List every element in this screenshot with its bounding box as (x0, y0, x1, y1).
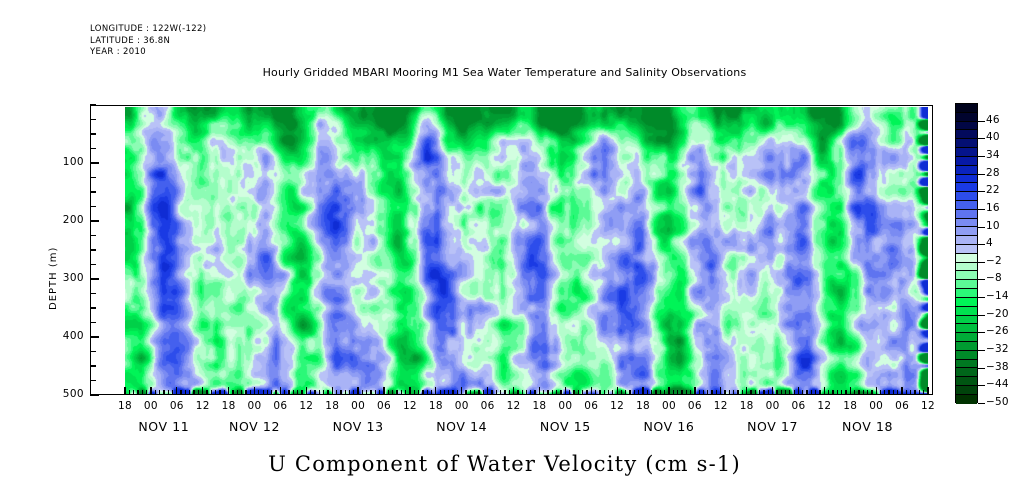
x-tick-minor (172, 390, 173, 395)
x-tick-minor (500, 390, 501, 395)
x-tick-major (798, 387, 799, 395)
colorbar-band (956, 395, 977, 404)
colorbar-band (956, 201, 977, 210)
x-tick-minor (547, 390, 548, 395)
colorbar-band (956, 157, 977, 166)
x-tick-minor (314, 390, 315, 395)
x-tick-minor (742, 390, 743, 395)
x-tick-minor (530, 390, 531, 395)
x-tick-major (228, 387, 229, 395)
x-tick-minor (396, 390, 397, 395)
colorbar-tick-label: 10 (986, 220, 1009, 232)
x-tick-major (357, 387, 358, 395)
x-tick-minor (750, 390, 751, 395)
colorbar-band (956, 368, 977, 377)
colorbar-tick-label: −2 (986, 255, 1009, 267)
x-day-label: NOV 15 (505, 419, 625, 434)
x-tick-minor (198, 390, 199, 395)
x-tick-minor (543, 390, 544, 395)
x-tick-minor (470, 390, 471, 395)
x-tick-minor (129, 390, 130, 395)
colorbar-band (956, 227, 977, 236)
x-tick-minor (427, 390, 428, 395)
x-tick-major (927, 387, 928, 395)
colorbar-tick (978, 279, 985, 280)
x-tick-minor (284, 390, 285, 395)
colorbar-tick-label: 16 (986, 202, 1009, 214)
x-tick-minor (582, 390, 583, 395)
y-tick-major (90, 336, 99, 338)
colorbar-tick-label: −44 (986, 378, 1009, 390)
x-tick-minor (664, 390, 665, 395)
x-tick-minor (345, 390, 346, 395)
colorbar-band (956, 130, 977, 139)
x-tick-minor (806, 390, 807, 395)
y-tick-minor (90, 322, 96, 324)
x-tick-major (409, 387, 410, 395)
y-tick-minor (90, 351, 96, 353)
x-tick-minor (401, 390, 402, 395)
x-tick-minor (759, 390, 760, 395)
y-tick-minor (90, 293, 96, 295)
x-tick-major (746, 387, 747, 395)
x-tick-minor (612, 390, 613, 395)
x-tick-minor (310, 390, 311, 395)
x-tick-minor (893, 390, 894, 395)
x-tick-minor (621, 390, 622, 395)
x-tick-minor (586, 390, 587, 395)
x-tick-minor (819, 390, 820, 395)
x-tick-minor (560, 390, 561, 395)
x-tick-major (280, 387, 281, 395)
y-tick-major (90, 394, 99, 396)
x-tick-minor (897, 390, 898, 395)
metadata-block: LONGITUDE : 122W(-122) LATITUDE : 36.8N … (90, 24, 206, 59)
x-day-label: NOV 18 (808, 419, 928, 434)
x-tick-minor (690, 390, 691, 395)
x-tick-minor (366, 390, 367, 395)
x-tick-minor (863, 390, 864, 395)
x-tick-major (513, 387, 514, 395)
colorbar-band (956, 316, 977, 325)
x-tick-minor (496, 390, 497, 395)
colorbar-band (956, 298, 977, 307)
x-tick-minor (871, 390, 872, 395)
colorbar-tick (978, 191, 985, 192)
x-tick-minor (224, 390, 225, 395)
x-tick-minor (474, 390, 475, 395)
x-tick-minor (699, 390, 700, 395)
x-tick-minor (263, 390, 264, 395)
x-tick-minor (275, 390, 276, 395)
x-tick-minor (634, 390, 635, 395)
colorbar-tick-label: −14 (986, 290, 1009, 302)
y-tick-major (90, 162, 99, 164)
x-tick-minor (457, 390, 458, 395)
x-tick-minor (867, 390, 868, 395)
x-tick-minor (168, 390, 169, 395)
colorbar-band (956, 210, 977, 219)
x-tick-minor (478, 390, 479, 395)
colorbar-band (956, 122, 977, 131)
x-tick-minor (375, 390, 376, 395)
x-tick-minor (137, 390, 138, 395)
y-tick-minor (90, 235, 96, 237)
y-tick-minor (90, 104, 96, 106)
x-tick-minor (569, 390, 570, 395)
colorbar-tick (978, 227, 985, 228)
x-tick-major (694, 387, 695, 395)
colorbar-band (956, 263, 977, 272)
y-tick-minor (90, 249, 96, 251)
x-tick-minor (888, 390, 889, 395)
x-day-label: NOV 14 (402, 419, 522, 434)
x-tick-minor (392, 390, 393, 395)
colorbar-band (956, 139, 977, 148)
x-tick-minor (763, 390, 764, 395)
x-tick-major (306, 387, 307, 395)
x-tick-major (435, 387, 436, 395)
colorbar-band (956, 113, 977, 122)
y-tick-minor (90, 206, 96, 208)
x-tick-major (487, 387, 488, 395)
y-tick-minor (90, 264, 96, 266)
colorbar-tick-label: −26 (986, 325, 1009, 337)
colorbar-band (956, 271, 977, 280)
colorbar-band (956, 245, 977, 254)
x-tick-minor (258, 390, 259, 395)
colorbar-tick (978, 138, 985, 139)
x-tick-minor (625, 390, 626, 395)
colorbar-tick (978, 121, 985, 122)
x-tick-minor (724, 390, 725, 395)
x-tick-minor (319, 390, 320, 395)
x-tick-major (876, 387, 877, 395)
figure-root: LONGITUDE : 122W(-122) LATITUDE : 36.8N … (0, 0, 1009, 504)
x-day-label: NOV 16 (609, 419, 729, 434)
x-tick-minor (301, 390, 302, 395)
x-hour-label: 12 (913, 400, 943, 412)
y-tick-label: 200 (40, 214, 84, 226)
x-tick-major (124, 387, 125, 395)
colorbar-band (956, 307, 977, 316)
x-tick-major (591, 387, 592, 395)
x-tick-major (150, 387, 151, 395)
colorbar-tick-label: −50 (986, 396, 1009, 408)
colorbar-band (956, 333, 977, 342)
x-tick-major (772, 387, 773, 395)
colorbar-band (956, 236, 977, 245)
x-tick-minor (483, 390, 484, 395)
x-tick-minor (405, 390, 406, 395)
colorbar-tick-label: −20 (986, 308, 1009, 320)
colorbar-band (956, 289, 977, 298)
year-text: YEAR : 2010 (90, 47, 206, 59)
x-tick-minor (556, 390, 557, 395)
colorbar-tick (978, 244, 985, 245)
x-tick-minor (163, 390, 164, 395)
x-tick-minor (241, 390, 242, 395)
x-tick-minor (655, 390, 656, 395)
x-tick-minor (703, 390, 704, 395)
x-tick-minor (794, 390, 795, 395)
x-tick-minor (919, 390, 920, 395)
colorbar-band (956, 254, 977, 263)
x-tick-minor (573, 390, 574, 395)
x-tick-minor (647, 390, 648, 395)
x-tick-minor (660, 390, 661, 395)
x-tick-minor (781, 390, 782, 395)
y-tick-minor (90, 148, 96, 150)
colorbar (955, 103, 978, 403)
colorbar-band (956, 360, 977, 369)
x-tick-major (850, 387, 851, 395)
x-tick-minor (608, 390, 609, 395)
x-tick-minor (716, 390, 717, 395)
x-tick-minor (215, 390, 216, 395)
colorbar-tick (978, 209, 985, 210)
x-tick-minor (522, 390, 523, 395)
colorbar-tick-label: 4 (986, 237, 1009, 249)
latitude-text: LATITUDE : 36.8N (90, 36, 206, 48)
x-tick-minor (414, 390, 415, 395)
x-tick-minor (267, 390, 268, 395)
x-tick-minor (422, 390, 423, 395)
x-tick-minor (288, 390, 289, 395)
x-tick-minor (686, 390, 687, 395)
x-tick-minor (448, 390, 449, 395)
y-tick-label: 500 (40, 388, 84, 400)
colorbar-band (956, 386, 977, 395)
x-tick-minor (440, 390, 441, 395)
x-tick-minor (379, 390, 380, 395)
main-title: Hourly Gridded MBARI Mooring M1 Sea Wate… (0, 66, 1009, 79)
x-tick-minor (858, 390, 859, 395)
colorbar-band (956, 280, 977, 289)
x-tick-minor (534, 390, 535, 395)
x-tick-minor (185, 390, 186, 395)
x-tick-minor (789, 390, 790, 395)
colorbar-tick (978, 403, 985, 404)
colorbar-tick (978, 332, 985, 333)
colorbar-tick-label: 40 (986, 131, 1009, 143)
x-tick-minor (785, 390, 786, 395)
x-tick-minor (491, 390, 492, 395)
x-tick-minor (729, 390, 730, 395)
colorbar-tick-label: 22 (986, 184, 1009, 196)
colorbar-band (956, 351, 977, 360)
x-tick-major (617, 387, 618, 395)
x-tick-minor (206, 390, 207, 395)
x-tick-minor (180, 390, 181, 395)
bottom-title: U Component of Water Velocity (cm s-1) (0, 452, 1009, 476)
x-day-label: NOV 12 (195, 419, 315, 434)
colorbar-band (956, 166, 977, 175)
y-tick-minor (90, 365, 96, 367)
x-tick-minor (841, 390, 842, 395)
x-tick-minor (353, 390, 354, 395)
x-tick-minor (211, 390, 212, 395)
x-tick-minor (595, 390, 596, 395)
colorbar-tick (978, 262, 985, 263)
colorbar-band (956, 324, 977, 333)
x-tick-minor (768, 390, 769, 395)
x-tick-minor (737, 390, 738, 395)
x-tick-minor (604, 390, 605, 395)
colorbar-tick-label: 46 (986, 114, 1009, 126)
x-tick-minor (155, 390, 156, 395)
x-tick-major (383, 387, 384, 395)
x-day-label: NOV 13 (298, 419, 418, 434)
colorbar-tick-label: 28 (986, 167, 1009, 179)
colorbar-band (956, 342, 977, 351)
x-tick-minor (504, 390, 505, 395)
x-tick-minor (914, 390, 915, 395)
y-tick-label: 100 (40, 156, 84, 168)
x-tick-minor (327, 390, 328, 395)
x-tick-minor (349, 390, 350, 395)
heatmap-canvas-wrap (125, 107, 928, 394)
x-tick-minor (418, 390, 419, 395)
x-tick-minor (340, 390, 341, 395)
x-tick-minor (293, 390, 294, 395)
colorbar-tick (978, 174, 985, 175)
colorbar-band (956, 175, 977, 184)
x-tick-major (642, 387, 643, 395)
longitude-text: LONGITUDE : 122W(-122) (90, 24, 206, 36)
x-tick-minor (552, 390, 553, 395)
x-tick-minor (733, 390, 734, 395)
x-tick-minor (923, 390, 924, 395)
colorbar-tick (978, 385, 985, 386)
colorbar-tick-label: −32 (986, 343, 1009, 355)
colorbar-band (956, 219, 977, 228)
x-tick-minor (845, 390, 846, 395)
x-tick-major (668, 387, 669, 395)
x-tick-minor (232, 390, 233, 395)
x-tick-major (254, 387, 255, 395)
x-tick-minor (509, 390, 510, 395)
x-tick-major (565, 387, 566, 395)
x-tick-minor (910, 390, 911, 395)
y-tick-major (90, 278, 99, 280)
x-tick-minor (250, 390, 251, 395)
x-tick-minor (193, 390, 194, 395)
x-tick-minor (142, 390, 143, 395)
x-tick-minor (755, 390, 756, 395)
y-tick-major (90, 220, 99, 222)
x-tick-major (824, 387, 825, 395)
x-tick-minor (465, 390, 466, 395)
x-tick-minor (159, 390, 160, 395)
x-tick-minor (651, 390, 652, 395)
velocity-heatmap (125, 107, 928, 394)
x-tick-minor (336, 390, 337, 395)
x-tick-major (176, 387, 177, 395)
x-tick-minor (828, 390, 829, 395)
x-tick-minor (884, 390, 885, 395)
x-tick-minor (906, 390, 907, 395)
x-tick-minor (189, 390, 190, 395)
x-tick-minor (526, 390, 527, 395)
x-tick-minor (880, 390, 881, 395)
colorbar-tick (978, 156, 985, 157)
x-tick-minor (133, 390, 134, 395)
colorbar-band (956, 192, 977, 201)
colorbar-tick (978, 315, 985, 316)
y-tick-minor (90, 133, 96, 135)
x-tick-minor (452, 390, 453, 395)
x-tick-minor (599, 390, 600, 395)
x-tick-major (539, 387, 540, 395)
colorbar-tick-label: −8 (986, 272, 1009, 284)
x-tick-minor (219, 390, 220, 395)
y-tick-minor (90, 380, 96, 382)
x-tick-minor (297, 390, 298, 395)
x-tick-minor (815, 390, 816, 395)
colorbar-band (956, 183, 977, 192)
colorbar-tick (978, 368, 985, 369)
x-tick-minor (673, 390, 674, 395)
colorbar-tick-label: 34 (986, 149, 1009, 161)
x-tick-minor (629, 390, 630, 395)
x-tick-minor (638, 390, 639, 395)
x-tick-minor (370, 390, 371, 395)
y-tick-minor (90, 191, 96, 193)
x-tick-minor (388, 390, 389, 395)
x-tick-minor (776, 390, 777, 395)
x-tick-minor (245, 390, 246, 395)
x-tick-major (332, 387, 333, 395)
x-tick-major (202, 387, 203, 395)
x-tick-minor (362, 390, 363, 395)
x-tick-major (720, 387, 721, 395)
x-tick-minor (578, 390, 579, 395)
x-tick-minor (811, 390, 812, 395)
x-tick-minor (146, 390, 147, 395)
x-tick-major (901, 387, 902, 395)
x-tick-minor (681, 390, 682, 395)
y-tick-label: 300 (40, 272, 84, 284)
colorbar-band (956, 148, 977, 157)
y-tick-label: 400 (40, 330, 84, 342)
colorbar-band (956, 104, 977, 113)
y-tick-minor (90, 119, 96, 121)
x-tick-minor (832, 390, 833, 395)
x-tick-minor (802, 390, 803, 395)
x-tick-minor (431, 390, 432, 395)
x-tick-minor (237, 390, 238, 395)
x-tick-minor (323, 390, 324, 395)
x-tick-minor (837, 390, 838, 395)
x-tick-minor (517, 390, 518, 395)
colorbar-tick-label: −38 (986, 361, 1009, 373)
x-tick-minor (677, 390, 678, 395)
y-tick-minor (90, 307, 96, 309)
x-tick-major (461, 387, 462, 395)
x-tick-minor (707, 390, 708, 395)
colorbar-tick (978, 350, 985, 351)
x-tick-minor (271, 390, 272, 395)
x-tick-minor (444, 390, 445, 395)
colorbar-band (956, 377, 977, 386)
x-tick-minor (854, 390, 855, 395)
colorbar-tick (978, 297, 985, 298)
x-tick-minor (711, 390, 712, 395)
y-tick-minor (90, 177, 96, 179)
